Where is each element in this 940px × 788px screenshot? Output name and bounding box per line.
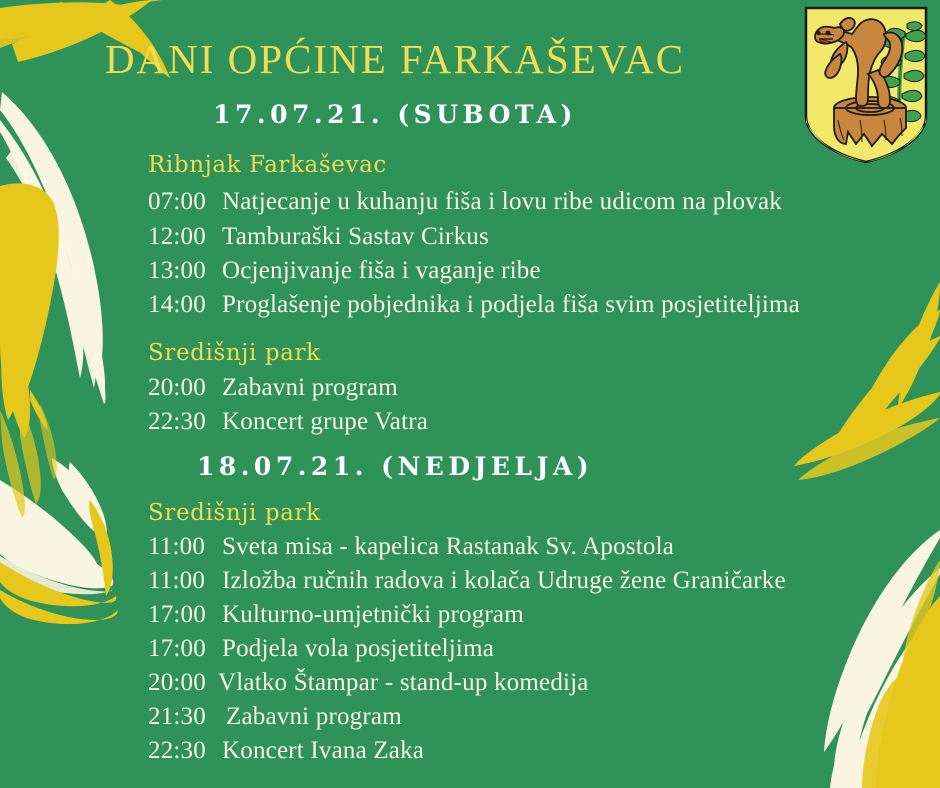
event-text: Vlatko Štampar - stand-up komedija [214,669,589,696]
event-text: Podjela vola posjetiteljima [214,635,494,662]
event-time: 20:00 [148,669,214,697]
date-header-saturday: 17.07.21. (SUBOTA) [0,100,790,129]
event-text: Izložba ručnih radova i kolača Udruge že… [214,567,786,594]
event-text: Koncert Ivana Zaka [214,737,424,764]
event-row: 21:30Zabavni program [148,703,402,731]
event-time: 11:00 [148,533,214,561]
event-time: 21:30 [148,703,214,731]
venue-heading-sredisnji-park-saturday: Središnji park [148,340,321,366]
event-time: 07:00 [148,188,214,216]
event-text: Natjecanje u kuhanju fiša i lovu ribe ud… [214,188,782,215]
event-time: 14:00 [148,291,214,319]
event-row: 17:00Podjela vola posjetiteljima [148,635,494,663]
event-text: Zabavni program [214,374,398,401]
event-time: 17:00 [148,601,214,629]
event-time: 17:00 [148,635,214,663]
event-time: 13:00 [148,257,214,285]
event-row: 12:00Tamburaški Sastav Cirkus [148,223,489,251]
event-time: 11:00 [148,567,214,595]
page-title: DANI OPĆINE FARKAŠEVAC [0,36,790,82]
event-row: 11:00Sveta misa - kapelica Rastanak Sv. … [148,533,674,561]
event-time: 22:30 [148,408,214,436]
event-row: 20:00Vlatko Štampar - stand-up komedija [148,669,589,697]
event-text: Sveta misa - kapelica Rastanak Sv. Apost… [214,533,674,560]
event-text: Proglašenje pobjednika i podjela fiša sv… [214,291,800,318]
event-time: 22:30 [148,737,214,765]
event-row: 22:30Koncert Ivana Zaka [148,737,424,765]
event-row: 17:00Kulturno-umjetnički program [148,601,524,629]
event-row: 07:00Natjecanje u kuhanju fiša i lovu ri… [148,188,782,216]
event-text: Zabavni program [214,703,402,730]
event-text: Koncert grupe Vatra [214,408,428,435]
poster-content: DANI OPĆINE FARKAŠEVAC 17.07.21. (SUBOTA… [0,0,940,788]
event-row: 20:00Zabavni program [148,374,398,402]
event-time: 20:00 [148,374,214,402]
date-header-sunday: 18.07.21. (NEDJELJA) [0,452,790,481]
event-row: 22:30Koncert grupe Vatra [148,408,428,436]
event-row: 14:00Proglašenje pobjednika i podjela fi… [148,291,800,319]
venue-heading-ribnjak: Ribnjak Farkaševac [148,152,387,178]
event-row: 13:00Ocjenjivanje fiša i vaganje ribe [148,257,541,285]
event-time: 12:00 [148,223,214,251]
event-row: 11:00Izložba ručnih radova i kolača Udru… [148,567,786,595]
event-poster: DANI OPĆINE FARKAŠEVAC 17.07.21. (SUBOTA… [0,0,940,788]
event-text: Kulturno-umjetnički program [214,601,524,628]
venue-heading-sredisnji-park-sunday: Središnji park [148,500,321,526]
event-text: Tamburaški Sastav Cirkus [214,223,489,250]
event-text: Ocjenjivanje fiša i vaganje ribe [214,257,541,284]
